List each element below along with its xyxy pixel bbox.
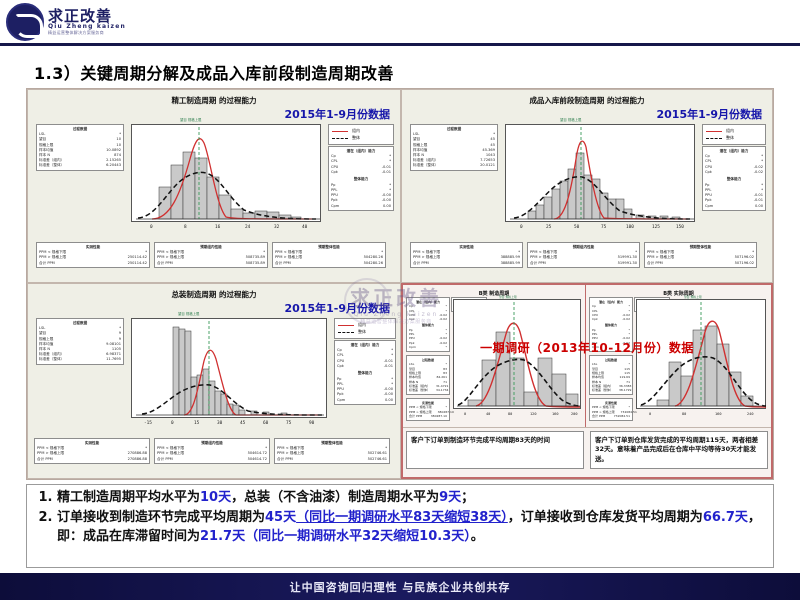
panel2-performance-boxes: 实测性能 PPM < 规格下限*PPM > 规格上限388885.99合计 PP…	[410, 242, 757, 268]
panel2-process-data-box: 过程数据 LSL*望目45规格上限45样本均值45.369样本 N1043标准差…	[410, 124, 498, 171]
stat-row: Cpk-0.02	[705, 170, 763, 175]
stat-row: 标准差（整体）6.20443	[39, 163, 121, 168]
c2-part6: 。	[471, 529, 484, 544]
c1-part2: ，总装（不含油漆）制造周期水平为	[231, 490, 439, 505]
panel2-perf-observed: 实测性能 PPM < 规格下限*PPM > 规格上限388885.99合计 PP…	[410, 242, 523, 268]
stat-key: Cpm	[337, 398, 351, 403]
panel1-histogram-svg	[132, 125, 322, 223]
page-title: 1.3）关键周期分解及成品入库前段制造周期改善	[34, 60, 394, 84]
c2-part2: （同比一期调研水平83天缩短38天）	[296, 510, 508, 525]
panel1-perf-observed: 实测性能 PPM < 规格下限*PPM > 规格上限250114.42合计 PP…	[36, 242, 150, 268]
stat-row: 合计 PPM502746.61	[277, 457, 387, 462]
stat-key: 标准差（整体）	[39, 357, 70, 362]
c1-part1: 精工制造周期平均水平为	[57, 490, 200, 505]
panel1-process-data-box: 过程数据 LSL*望目10规格上限10样本均值10.0892样本 N874标准差…	[36, 124, 124, 171]
panel2-histogram-svg	[506, 125, 696, 223]
panel3-bars	[173, 327, 287, 415]
conclusion-item-1: 精工制造周期平均水平为10天，总装（不含油漆）制造周期水平为9天；	[57, 488, 767, 508]
stat-row: 合计 PPM270886.88	[37, 457, 147, 462]
panel1-performance-boxes: 实测性能 PPM < 规格下限*PPM > 规格上限250114.42合计 PP…	[36, 242, 386, 268]
subpanel-right-spec-label: 望目 规格上限	[684, 295, 702, 299]
subpanel-b-actual: B类 实际周期 潜在（组内）能力 Cp*CPL*CPU-0.02Cpk-0.02…	[586, 285, 771, 427]
stat-value: 380287.10	[431, 414, 447, 418]
panel3-legend: 组内 整体	[334, 318, 396, 339]
panel2-legend-overall: 整体	[726, 135, 734, 141]
c1-part3: ；	[461, 490, 474, 505]
stat-row: 合计 PPM388885.99	[413, 261, 520, 266]
stat-row: 标准差（整体）38.1729	[592, 388, 630, 392]
panel1-process-rows: LSL*望目10规格上限10样本均值10.0892样本 N874标准差（组内）2…	[39, 132, 121, 168]
panel3-histogram-svg	[132, 319, 328, 419]
stat-row: 合计 PPM507196.02	[647, 261, 754, 266]
panel1-legend-overall: 整体	[352, 135, 360, 141]
c1-value1: 10天	[200, 490, 231, 505]
stat-row: 合计 PPM508735.89	[157, 261, 265, 266]
company-logo: 求正改善 Qiu Zheng kaizen 精益运营整体解决方案服务商	[6, 2, 136, 42]
stat-value: 6.20443	[106, 163, 121, 168]
slide-header: 求正改善 Qiu Zheng kaizen 精益运营整体解决方案服务商	[0, 0, 800, 44]
phase1-captions: 客户下订单到制造环节完成平均周期83天的时间 客户下订单到仓库发货完成的平均周期…	[403, 427, 771, 472]
stat-value: 38.1729	[619, 388, 631, 392]
stat-value: 270886.88	[128, 457, 147, 462]
panel-assembly-capability: 总装制造周期 的过程能力 2015年1-9月份数据 过程数据 LSL*望目9规格…	[27, 283, 401, 479]
stat-value: 507196.02	[735, 261, 754, 266]
stat-value: 504614.72	[248, 457, 267, 462]
panel2-perf-overall: 预期整体性能 PPM < 规格下限*PPM > 规格上限507196.02合计 …	[644, 242, 757, 268]
panel1-perf-within: 预期组内性能 PPM < 规格下限*PPM > 规格上限508735.89合计 …	[154, 242, 268, 268]
panel-phase1-survey: 一期调研（2013年10-12月份）数据 B类 制造周期 潜在（组内）能力 Cp…	[401, 283, 773, 479]
stat-value: 519991.30	[618, 261, 637, 266]
stat-value: 504280.26	[364, 261, 383, 266]
stat-key: Cpm	[705, 204, 719, 209]
stat-value: 250114.42	[128, 261, 147, 266]
stat-key: Cpk	[592, 317, 604, 321]
stat-row: Cpk-0.01	[337, 364, 393, 369]
stat-row: 标准差（整体）11.7695	[39, 357, 121, 362]
stat-key: 合计 PPM	[647, 261, 669, 266]
stat-row: Cpm0.00	[337, 398, 393, 403]
footer-slogan: 让中国咨询回归理性 与民族企业共创共存	[290, 579, 511, 595]
panel2-spec-label: 望目 规格上限	[560, 117, 581, 122]
stat-key: 合计 PPM	[409, 414, 428, 418]
panel2-title: 成品入库前段制造周期 的过程能力	[402, 95, 772, 106]
panel1-bars	[159, 152, 301, 219]
stat-row: 合计 PPM519991.30	[530, 261, 637, 266]
stat-value: 0.00	[383, 204, 391, 209]
stat-row: Cpk-0.02	[592, 317, 630, 321]
stat-key: Cpk	[331, 170, 344, 175]
panel-jinggong-capability: 精工制造周期 的过程能力 2015年1-9月份数据 过程数据 LSL*望目10规…	[27, 89, 401, 283]
subpanel-b-manufacturing: B类 制造周期 潜在（组内）能力 Cp*CPL*CPU-0.02Cpk-0.02…	[403, 285, 586, 427]
stat-row: 合计 PPM732084.51	[592, 414, 630, 418]
stat-row: 合计 PPM504614.72	[157, 457, 267, 462]
stat-key: 合计 PPM	[157, 457, 179, 462]
stat-row: 标准差（整体）34.1734	[409, 388, 447, 392]
panel3-performance-boxes: 实测性能 PPM < 规格下限*PPM > 规格上限270886.88合计 PP…	[34, 438, 390, 464]
stat-key: Cpk	[337, 364, 350, 369]
stat-key: Cpk	[409, 317, 421, 321]
c2-part1: 订单接收到制造环节完成平均周期为	[57, 510, 265, 525]
stat-value: -0.02	[754, 170, 763, 175]
panel2-histogram: 0 25 50 75 100 125 150	[505, 124, 695, 222]
stat-key: Cpk	[705, 170, 718, 175]
c2-value3: 21.7天	[200, 529, 245, 544]
stat-key: 合计 PPM	[39, 261, 61, 266]
stat-value: 388885.99	[501, 261, 520, 266]
panel2-bars	[528, 153, 680, 219]
subpanel-right-title: B类 实际周期	[586, 290, 771, 297]
panel1-legend: 组内 整体	[328, 124, 394, 145]
stat-key: 合计 PPM	[37, 457, 59, 462]
panel2-perf-within: 预期组内性能 PPM < 规格下限*PPM > 规格上限519991.30合计 …	[527, 242, 640, 268]
stat-key: 合计 PPM	[277, 457, 299, 462]
c1-value2: 9天	[439, 490, 461, 505]
panel3-legend-within: 组内	[358, 322, 366, 328]
stat-key: 标准差（整体）	[409, 388, 436, 392]
subpanel-left-spec-label: 望目 规格上限	[499, 295, 517, 299]
panel2-capability-box: 潜在（组内）能力 Cp*CPL*CPU-0.02Cpk-0.02 整体能力 Pp…	[702, 146, 766, 211]
slide-footer: 让中国咨询回归理性 与民族企业共创共存	[0, 573, 800, 600]
panel1-spec-label: 望目 规格上限	[180, 117, 201, 122]
stat-value: -0.01	[384, 364, 393, 369]
panel2-legend-within: 组内	[726, 128, 734, 134]
panel3-process-data-box: 过程数据 LSL*望目9规格上限9样本均值9.08101样本 N1105标准差（…	[36, 318, 124, 365]
stat-value: -0.02	[622, 317, 630, 321]
subpanel-right-bars	[657, 326, 753, 406]
stat-key: 标准差（整体）	[39, 163, 70, 168]
subpanel-left-title: B类 制造周期	[403, 290, 585, 297]
stat-value: 11.7695	[106, 357, 121, 362]
stat-row: 合计 PPM250114.42	[39, 261, 147, 266]
panel1-capability-box: 潜在（组内）能力 Cp*CPL*CPU-0.01Cpk-0.01 整体能力 Pp…	[328, 146, 394, 211]
stat-value: 34.1734	[436, 388, 448, 392]
phase1-band-label: 一期调研（2013年10-12月份）数据	[403, 339, 771, 356]
header-divider	[0, 43, 800, 46]
c2-value2: 66.7天	[703, 510, 748, 525]
stat-row: 合计 PPM380287.10	[409, 414, 447, 418]
panel3-title: 总装制造周期 的过程能力	[28, 289, 400, 300]
stat-row: 标准差（整体）20.0121	[413, 163, 495, 168]
c2-value1: 45天	[265, 510, 296, 525]
stat-value: 0.00	[385, 398, 393, 403]
panel2-date-stamp: 2015年1-9月份数据	[657, 106, 763, 122]
caption-shipping: 客户下订单到仓库发货完成的平均周期115天，两者相差32天。意味着产品完成后在仓…	[590, 431, 768, 469]
conclusion-item-2: 订单接收到制造环节完成平均周期为45天（同比一期调研水平83天缩短38天），订单…	[57, 508, 767, 547]
panel3-perf-observed: 实测性能 PPM < 规格下限*PPM > 规格上限270886.88合计 PP…	[34, 438, 150, 464]
stat-value: -0.02	[439, 317, 447, 321]
stat-key: 合计 PPM	[530, 261, 552, 266]
stat-key: Cpm	[331, 204, 345, 209]
conclusions-block: 精工制造周期平均水平为10天，总装（不含油漆）制造周期水平为9天； 订单接收到制…	[26, 484, 774, 568]
subpanel-left-perf-box: 实测性能 PPM < 规格下限*PPM > 规格上限380287.10合计 PP…	[406, 398, 450, 421]
stat-row: Cpm0.00	[331, 204, 391, 209]
stat-key: 合计 PPM	[592, 414, 611, 418]
stat-value: -0.01	[382, 170, 391, 175]
stat-value: 508735.89	[246, 261, 265, 266]
caption-manufacturing: 客户下订单到制造环节完成平均周期83天的时间	[406, 431, 584, 469]
logo-tagline: 精益运营整体解决方案服务商	[48, 31, 126, 35]
panel1-title: 精工制造周期 的过程能力	[28, 95, 400, 106]
c2-part3: ，订单接收到仓库发货平均周期为	[508, 510, 703, 525]
stat-key: 合计 PPM	[413, 261, 435, 266]
panel3-spec-label: 望目 规格上限	[178, 311, 199, 316]
stat-value: 20.0121	[480, 163, 495, 168]
stat-value: 732084.51	[614, 414, 630, 418]
stat-row: Cpk-0.02	[409, 317, 447, 321]
logo-name-cn: 求正改善	[48, 9, 126, 24]
panel3-capability-box: 潜在（组内）能力 Cp*CPL*CPU-0.01Cpk-0.01 整体能力 Pp…	[334, 340, 396, 405]
stat-key: 合计 PPM	[157, 261, 179, 266]
stat-key: 标准差（整体）	[592, 388, 619, 392]
stat-value: 0.00	[755, 204, 763, 209]
stat-value: 502746.61	[368, 457, 387, 462]
charts-frame: 精工制造周期 的过程能力 2015年1-9月份数据 过程数据 LSL*望目10规…	[26, 88, 774, 480]
stat-key: 合计 PPM	[275, 261, 297, 266]
stat-row: 合计 PPM504280.26	[275, 261, 383, 266]
panel3-perf-within: 预期组内性能 PPM < 规格下限*PPM > 规格上限504614.72合计 …	[154, 438, 270, 464]
stat-key: 标准差（整体）	[413, 163, 444, 168]
panel3-date-stamp: 2015年1-9月份数据	[285, 300, 391, 316]
panel2-legend: 组内 整体	[702, 124, 766, 145]
stat-row: Cpk-0.01	[331, 170, 391, 175]
stat-row: Cpm0.00	[705, 204, 763, 209]
panel1-date-stamp: 2015年1-9月份数据	[285, 106, 391, 122]
panel1-perf-overall: 预期整体性能 PPM < 规格下限*PPM > 规格上限504280.26合计 …	[272, 242, 386, 268]
panel3-legend-overall: 整体	[358, 329, 366, 335]
panel-finished-goods-capability: 成品入库前段制造周期 的过程能力 2015年1-9月份数据 过程数据 LSL*望…	[401, 89, 773, 283]
panel1-histogram: 0 8 16 24 32 40	[131, 124, 321, 222]
subpanel-right-perf-box: 实测性能 PPM < 规格下限*PPM > 规格上限732084.51合计 PP…	[589, 398, 633, 421]
panel3-perf-overall: 预期整体性能 PPM < 规格下限*PPM > 规格上限502746.61合计 …	[274, 438, 390, 464]
panel3-histogram: -15 0 15 30 45 60 75 90	[131, 318, 327, 418]
panel1-legend-within: 组内	[352, 128, 360, 134]
logo-mark-icon	[6, 3, 44, 41]
subpanel-left-process-box: 过程数据 LSL*望目83规格上限83样本均值84.261样本 N71标准差（组…	[406, 355, 450, 395]
c2-part5: （同比一期调研水平32天缩短10.3天）	[245, 529, 471, 544]
subpanel-right-process-box: 过程数据 LSL*望目115规格上限115样本均值119.69样本 N71标准差…	[589, 355, 633, 395]
